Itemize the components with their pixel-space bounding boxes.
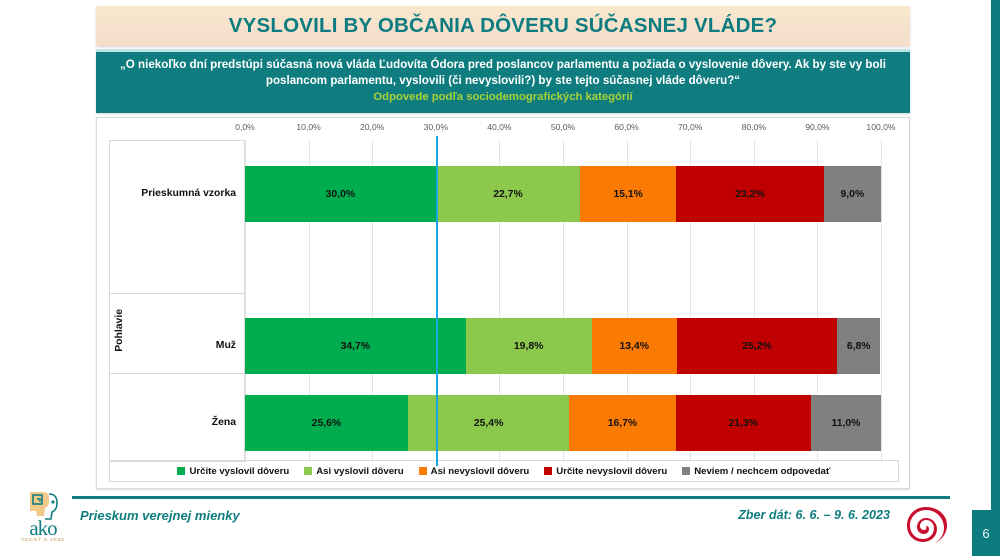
x-tick-label: 10,0%	[296, 122, 320, 132]
footer-divider	[72, 496, 950, 499]
category-label: Žena	[212, 417, 236, 428]
legend-swatch-icon	[419, 467, 427, 475]
category-axis-divider	[110, 373, 246, 374]
legend-item[interactable]: Určite nevyslovil dôveru	[544, 466, 667, 477]
bar-segment[interactable]: 6,8%	[837, 318, 880, 374]
x-tick-label: 90,0%	[805, 122, 829, 132]
category-axis: Prieskumná vzorkaMužŽenaPohlavie	[109, 140, 245, 462]
x-tick-label: 60,0%	[614, 122, 638, 132]
bar-row: 30,0%22,7%15,1%23,2%9,0%	[245, 166, 881, 222]
category-group-label: Pohlavie	[114, 309, 125, 352]
category-axis-divider	[110, 293, 246, 294]
legend-label: Asi vyslovil dôveru	[316, 466, 403, 477]
category-label: Muž	[216, 340, 236, 351]
bar-segment[interactable]: 23,2%	[676, 166, 824, 222]
bar-row: 25,6%25,4%16,7%21,3%11,0%	[245, 395, 881, 451]
plot-area: 30,0%22,7%15,1%23,2%9,0%34,7%19,8%13,4%2…	[245, 140, 881, 462]
legend-label: Asi nevyslovil dôveru	[431, 466, 530, 477]
legend-item[interactable]: Asi nevyslovil dôveru	[419, 466, 530, 477]
footer-left-text: Prieskum verejnej mienky	[80, 508, 240, 523]
legend-label: Určite vyslovil dôveru	[189, 466, 289, 477]
legend-item[interactable]: Neviem / nechcem odpovedať	[682, 466, 830, 477]
bar-segment[interactable]: 25,6%	[245, 395, 408, 451]
reference-line-marker	[436, 136, 438, 466]
question-subtitle: Odpovede podľa sociodemografických kateg…	[114, 91, 892, 103]
bar-segment[interactable]: 15,1%	[580, 166, 676, 222]
x-tick-label: 80,0%	[742, 122, 766, 132]
x-tick-label: 100,0%	[866, 122, 895, 132]
x-tick-label: 0,0%	[235, 122, 255, 132]
bar-segment[interactable]: 19,8%	[466, 318, 592, 374]
bar-segment[interactable]: 25,4%	[408, 395, 570, 451]
spiral-logo-icon	[904, 504, 948, 548]
page-title: VYSLOVILI BY OBČANIA DÔVERU SÚČASNEJ VLÁ…	[229, 14, 778, 38]
legend-swatch-icon	[304, 467, 312, 475]
slide-root: VYSLOVILI BY OBČANIA DÔVERU SÚČASNEJ VLÁ…	[0, 0, 1000, 556]
legend-label: Určite nevyslovil dôveru	[556, 466, 667, 477]
chart-legend: Určite vyslovil dôveruAsi vyslovil dôver…	[109, 460, 899, 482]
x-tick-label: 70,0%	[678, 122, 702, 132]
bar-segment[interactable]: 34,7%	[245, 318, 466, 374]
x-tick-label: 20,0%	[360, 122, 384, 132]
slide-title-band: VYSLOVILI BY OBČANIA DÔVERU SÚČASNEJ VLÁ…	[96, 6, 910, 46]
legend-label: Neviem / nechcem odpovedať	[694, 466, 830, 477]
gridline	[881, 140, 882, 462]
bar-segment[interactable]: 11,0%	[811, 395, 881, 451]
legend-item[interactable]: Určite vyslovil dôveru	[177, 466, 289, 477]
bar-segment[interactable]: 9,0%	[824, 166, 881, 222]
legend-swatch-icon	[544, 467, 552, 475]
bar-segment[interactable]: 30,0%	[245, 166, 436, 222]
bar-segment[interactable]: 16,7%	[569, 395, 675, 451]
ako-logo-tagline: VEDIEŤ O SEBE	[12, 537, 74, 542]
question-text: „O niekoľko dní predstúpi súčasná nová v…	[114, 57, 892, 89]
legend-item[interactable]: Asi vyslovil dôveru	[304, 466, 403, 477]
x-tick-label: 40,0%	[487, 122, 511, 132]
question-band: „O niekoľko dní predstúpi súčasná nová v…	[96, 49, 910, 113]
bar-segment[interactable]: 22,7%	[436, 166, 580, 222]
footer-date-text: Zber dát: 6. 6. – 9. 6. 2023	[738, 508, 890, 522]
legend-swatch-icon	[682, 467, 690, 475]
chart-panel: 0,0%10,0%20,0%30,0%40,0%50,0%60,0%70,0%8…	[96, 117, 910, 489]
right-edge-bar	[991, 0, 1000, 556]
bar-row: 34,7%19,8%13,4%25,2%6,8%	[245, 318, 880, 374]
category-label: Prieskumná vzorka	[141, 188, 236, 199]
x-tick-label: 50,0%	[551, 122, 575, 132]
x-axis-tick-labels: 0,0%10,0%20,0%30,0%40,0%50,0%60,0%70,0%8…	[97, 122, 911, 138]
bar-segment[interactable]: 13,4%	[592, 318, 677, 374]
legend-swatch-icon	[177, 467, 185, 475]
x-tick-label: 30,0%	[424, 122, 448, 132]
page-number: 6	[972, 510, 1000, 556]
bar-segment[interactable]: 25,2%	[677, 318, 837, 374]
bar-segment[interactable]: 21,3%	[676, 395, 811, 451]
